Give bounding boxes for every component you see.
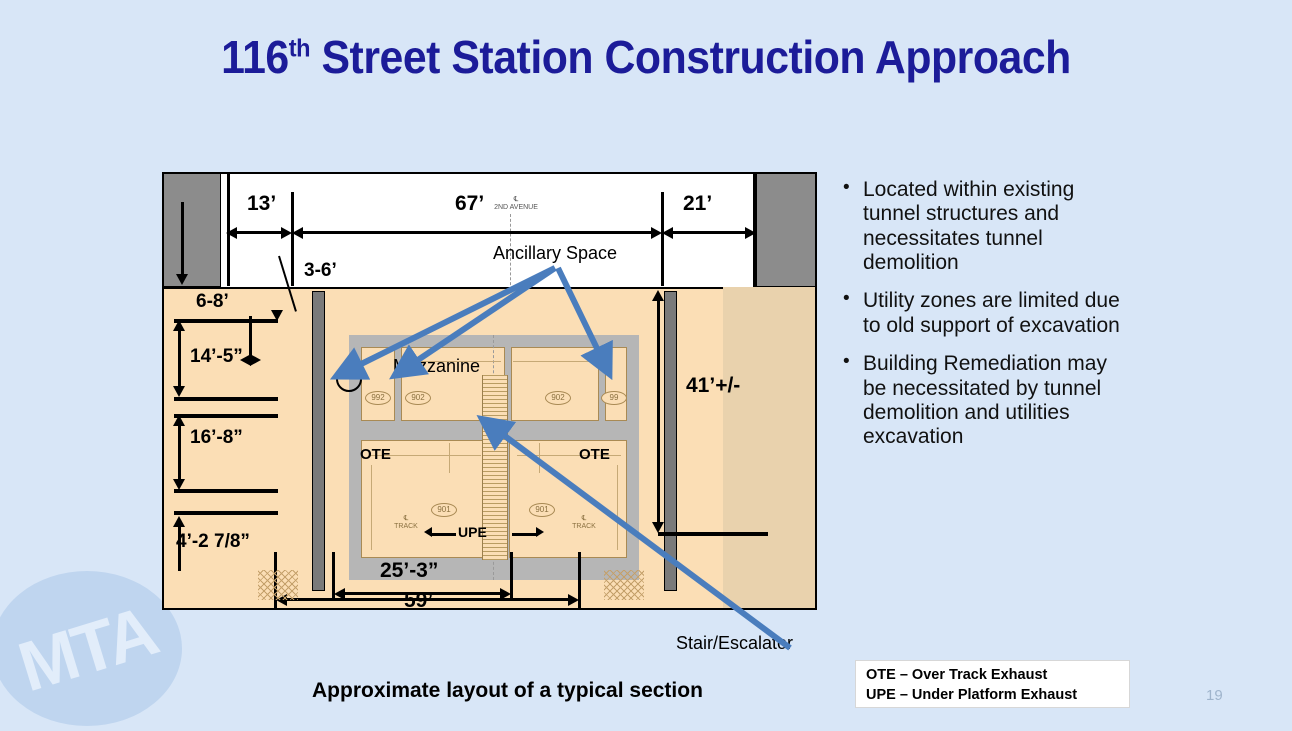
bullet-item: Utility zones are limited due to old sup… xyxy=(843,289,1133,338)
upe-line-right xyxy=(512,533,538,536)
dim-21ft-label: 21’ xyxy=(683,192,712,216)
room-tag: 902 xyxy=(405,391,431,405)
mta-logo-text: MTA xyxy=(10,590,165,707)
ancillary-space-label: Ancillary Space xyxy=(493,243,617,264)
building-block-right xyxy=(753,174,815,287)
dim-3-6ft-label: 3-6’ xyxy=(304,260,337,282)
dim-59ft-line xyxy=(286,598,570,601)
dim-67ft-arrow-left xyxy=(292,227,303,239)
station-section-diagram: ℄ 2ND AVENUE 992 902 902 99 901 901 ℄TRA… xyxy=(162,172,817,610)
dim-rule-5 xyxy=(174,511,278,515)
dim-rule-4 xyxy=(174,489,278,493)
dim-14-5-arrow-down xyxy=(173,386,185,397)
ground-shade-band xyxy=(723,287,815,608)
centerline-label: 2ND AVENUE xyxy=(486,204,546,212)
slurry-wall-right xyxy=(664,291,677,591)
bldg-depth-line xyxy=(181,202,184,280)
track-label: TRACK xyxy=(389,523,423,531)
dim-4-2-arrow-up xyxy=(173,516,185,527)
ote-label-left: OTE xyxy=(360,446,391,463)
ote-label-right: OTE xyxy=(579,446,610,463)
track-centerline-right: ℄TRACK xyxy=(567,515,601,531)
dim-16-8-line xyxy=(178,422,181,482)
upe-line-left xyxy=(430,533,456,536)
detail-line-6 xyxy=(617,465,618,550)
upe-arrow-right xyxy=(536,527,544,537)
page-title: 116th Street Station Construction Approa… xyxy=(45,30,1247,84)
bullet-item: Building Remediation may be necessitated… xyxy=(843,352,1133,449)
room-tag: 901 xyxy=(431,503,457,517)
bldg-depth-arrow xyxy=(176,274,188,285)
dim-14-5-label: 14’-5” xyxy=(190,346,243,368)
abbreviation-legend: OTE – Over Track Exhaust UPE – Under Pla… xyxy=(855,660,1130,708)
dim-67ft-label: 67’ xyxy=(455,192,484,216)
dim-25-3-label: 25’-3” xyxy=(380,559,438,583)
mezzanine-label: Mezzanine xyxy=(393,356,480,377)
track-label: TRACK xyxy=(567,523,601,531)
legend-line-upe: UPE – Under Platform Exhaust xyxy=(866,686,1129,706)
mta-logo-watermark: MTA xyxy=(0,571,182,726)
dim-16-8-arrow-down xyxy=(173,479,185,490)
dim-41ft-base-rule xyxy=(658,532,768,536)
track-centerline-left: ℄TRACK xyxy=(389,515,423,531)
dim-4-2-line xyxy=(178,523,181,571)
diagram-caption: Approximate layout of a typical section xyxy=(312,679,703,703)
dim-14-5-arrow-up xyxy=(173,320,185,331)
mezzanine-room-far-right xyxy=(605,347,627,421)
dim-13ft-arrow-left xyxy=(226,227,237,239)
legend-line-ote: OTE – Over Track Exhaust xyxy=(866,666,1129,686)
dim-21ft-line xyxy=(672,231,748,234)
dim-67ft-arrow-right xyxy=(651,227,662,239)
slurry-wall-left xyxy=(312,291,325,591)
rubble-hatch-left xyxy=(258,570,298,600)
dim-tick-c xyxy=(661,192,664,286)
dim-67ft-line xyxy=(302,231,652,234)
detail-line-2 xyxy=(513,361,599,362)
dim-tick-b xyxy=(291,192,294,286)
room-tag: 99 xyxy=(601,391,627,405)
upe-arrow-left xyxy=(424,527,432,537)
dim-16-8-arrow-up xyxy=(173,415,185,426)
dim-4-2-label: 4’-2 7/8” xyxy=(176,531,250,553)
dim-13ft-label: 13’ xyxy=(247,192,276,216)
detail-line-5 xyxy=(371,465,372,550)
title-prefix: 116 xyxy=(221,31,289,83)
room-tag: 902 xyxy=(545,391,571,405)
dim-41ft-arrow-up xyxy=(652,290,664,301)
centerline-symbol: ℄ xyxy=(486,196,546,204)
slide-number: 19 xyxy=(1206,687,1223,704)
dim-41ft-label: 41’+/- xyxy=(686,374,740,398)
dim-14-5-line xyxy=(178,326,181,390)
dim-rule-3 xyxy=(174,414,278,418)
dim-6-8ft-label: 6-8’ xyxy=(196,291,229,313)
room-tag: 901 xyxy=(529,503,555,517)
bullet-list: Located within existing tunnel structure… xyxy=(843,178,1133,464)
ancillary-space-marker-circle xyxy=(336,366,362,392)
room-tag: 992 xyxy=(365,391,391,405)
stair-escalator-label: Stair/Escalator xyxy=(676,633,793,654)
upe-dimension: UPE xyxy=(424,524,544,542)
title-rest: Street Station Construction Approach xyxy=(310,31,1071,83)
dim-rule-1 xyxy=(174,319,278,323)
dim-16-8-label: 16’-8” xyxy=(190,427,243,449)
title-superscript: th xyxy=(289,35,310,63)
bullet-item: Located within existing tunnel structure… xyxy=(843,178,1133,275)
detail-line-7 xyxy=(449,443,450,473)
dim-13ft-arrow-right xyxy=(281,227,292,239)
centerline-marker: ℄ 2ND AVENUE xyxy=(486,196,546,212)
detail-line-8 xyxy=(539,443,540,473)
dim-21ft-arrow-left xyxy=(662,227,673,239)
dim-13ft-line xyxy=(236,231,284,234)
mezzanine-room-far-left xyxy=(361,347,395,421)
dim-41ft-line xyxy=(657,297,660,527)
upe-label: UPE xyxy=(458,524,487,540)
dim-3-6ft-arrow-right xyxy=(250,354,261,366)
rubble-hatch-right xyxy=(604,570,644,600)
dim-59ft-arrow-right xyxy=(568,594,579,606)
mezzanine-room-right xyxy=(511,347,599,421)
dim-rule-2 xyxy=(174,397,278,401)
building-block-left xyxy=(164,174,221,287)
dim-21ft-arrow-right xyxy=(745,227,756,239)
